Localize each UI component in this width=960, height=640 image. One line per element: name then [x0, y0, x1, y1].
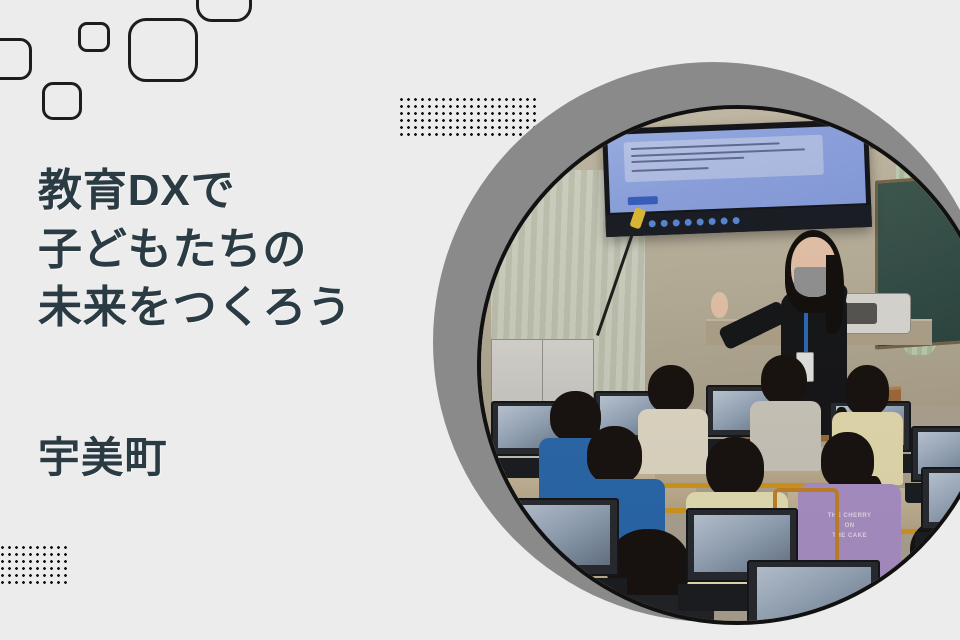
dot-grid-pattern-bottom [0, 544, 70, 584]
rounded-square-icon [78, 22, 110, 52]
screen-submit-button [628, 196, 658, 205]
rounded-square-icon [128, 18, 198, 82]
curtain-rod [870, 145, 960, 149]
rounded-square-icon [42, 82, 82, 120]
rounded-square-icon [0, 38, 32, 80]
teacher-hand [711, 292, 727, 317]
display-screen [607, 126, 865, 213]
student-laptop [501, 498, 619, 606]
municipality-name: 宇美町 [38, 424, 168, 485]
rounded-square-icon [196, 0, 252, 22]
classroom-photo: THE CHERRY ON THE CAKE [477, 105, 960, 625]
promo-banner: 教育DXで 子どもたちの 未来をつくろう 宇美町 [0, 0, 960, 640]
classroom-scene: THE CHERRY ON THE CAKE [481, 109, 960, 621]
page-title: 教育DXで 子どもたちの 未来をつくろう [38, 162, 458, 338]
foreground-laptop [747, 560, 880, 621]
digital-clock-icon [942, 165, 960, 182]
student-laptop [921, 467, 960, 554]
